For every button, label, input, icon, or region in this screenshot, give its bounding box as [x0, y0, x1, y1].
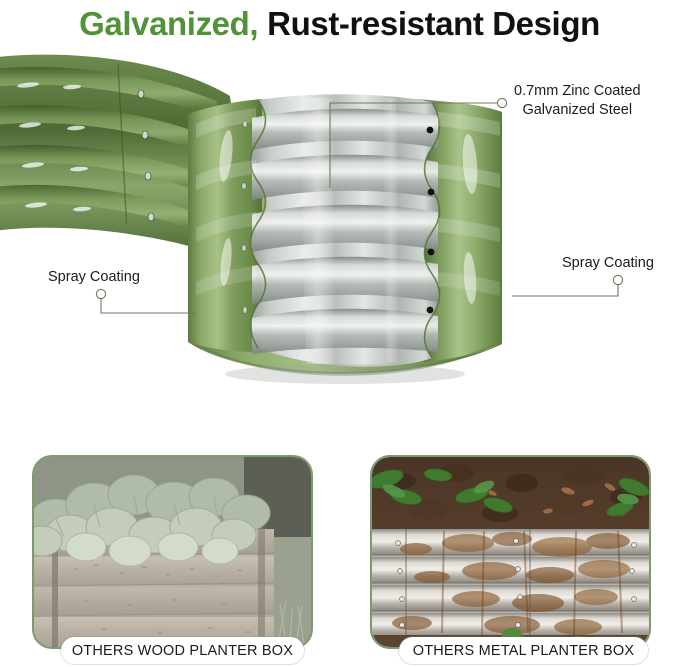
wood-planter-photo — [34, 457, 311, 647]
annotation-zinc-coated-steel: 0.7mm Zinc Coated Galvanized Steel — [514, 82, 641, 120]
title-rest: Rust-resistant Design — [267, 5, 600, 43]
rusty-corrugated-wall — [372, 529, 649, 637]
caption-wood-planter: OTHERS WOOD PLANTER BOX — [61, 637, 304, 664]
galvanized-steel-panel — [251, 94, 440, 366]
product-front-body — [188, 94, 502, 384]
annotation-spray-coating-right: Spray Coating — [562, 254, 654, 273]
comparison-photo-metal — [370, 455, 651, 649]
comparison-photo-wood — [32, 455, 313, 649]
metal-planter-photo — [372, 457, 649, 647]
infographic-canvas: Galvanized,Rust-resistant Design — [0, 0, 679, 667]
title-highlight: Galvanized, — [79, 5, 258, 43]
page-title: Galvanized,Rust-resistant Design — [0, 0, 679, 48]
annotation-spray-coating-left: Spray Coating — [48, 268, 140, 287]
caption-metal-planter: OTHERS METAL PLANTER BOX — [399, 637, 648, 664]
